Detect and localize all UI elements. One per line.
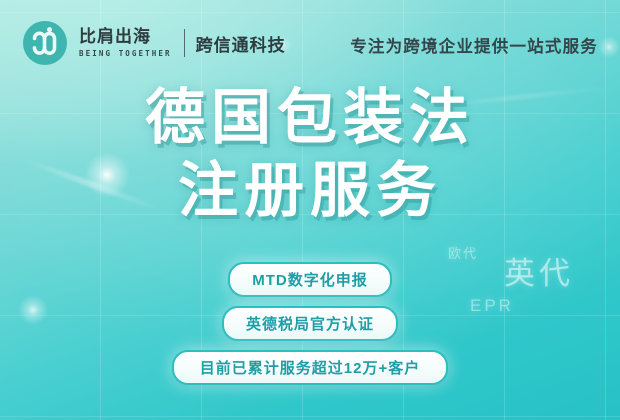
brand-subsidiary: 跨信通科技: [196, 31, 286, 56]
promo-banner: 欧代 英代 EPR 比肩出海 BEING TOGETHER 跨信通科技: [0, 0, 620, 420]
feature-pill-mtd[interactable]: MTD数字化申报: [228, 262, 392, 297]
brand-name-cn: 比肩出海: [79, 28, 172, 46]
feature-pill-list: MTD数字化申报 英德税局官方认证 目前已累计服务超过12万+客户: [0, 262, 620, 385]
banner-header: 比肩出海 BEING TOGETHER 跨信通科技 专注为跨境企业提供一站式服务: [0, 0, 620, 84]
feature-pill-customer-count[interactable]: 目前已累计服务超过12万+客户: [172, 350, 448, 385]
watermark-oudai: 欧代: [448, 243, 478, 262]
hero-line-2: 注册服务: [0, 161, 620, 221]
brand-divider: [184, 29, 185, 57]
hero-heading: 德国包装法 注册服务: [0, 88, 620, 221]
brand-name-en: BEING TOGETHER: [79, 49, 172, 58]
hero-line-1: 德国包装法: [0, 88, 620, 148]
logo: 比肩出海 BEING TOGETHER 跨信通科技: [22, 20, 286, 66]
feature-pill-certification[interactable]: 英德税局官方认证: [222, 306, 398, 341]
header-tagline: 专注为跨境企业提供一站式服务: [350, 33, 598, 57]
being-together-circle-logo-icon: [22, 20, 68, 66]
